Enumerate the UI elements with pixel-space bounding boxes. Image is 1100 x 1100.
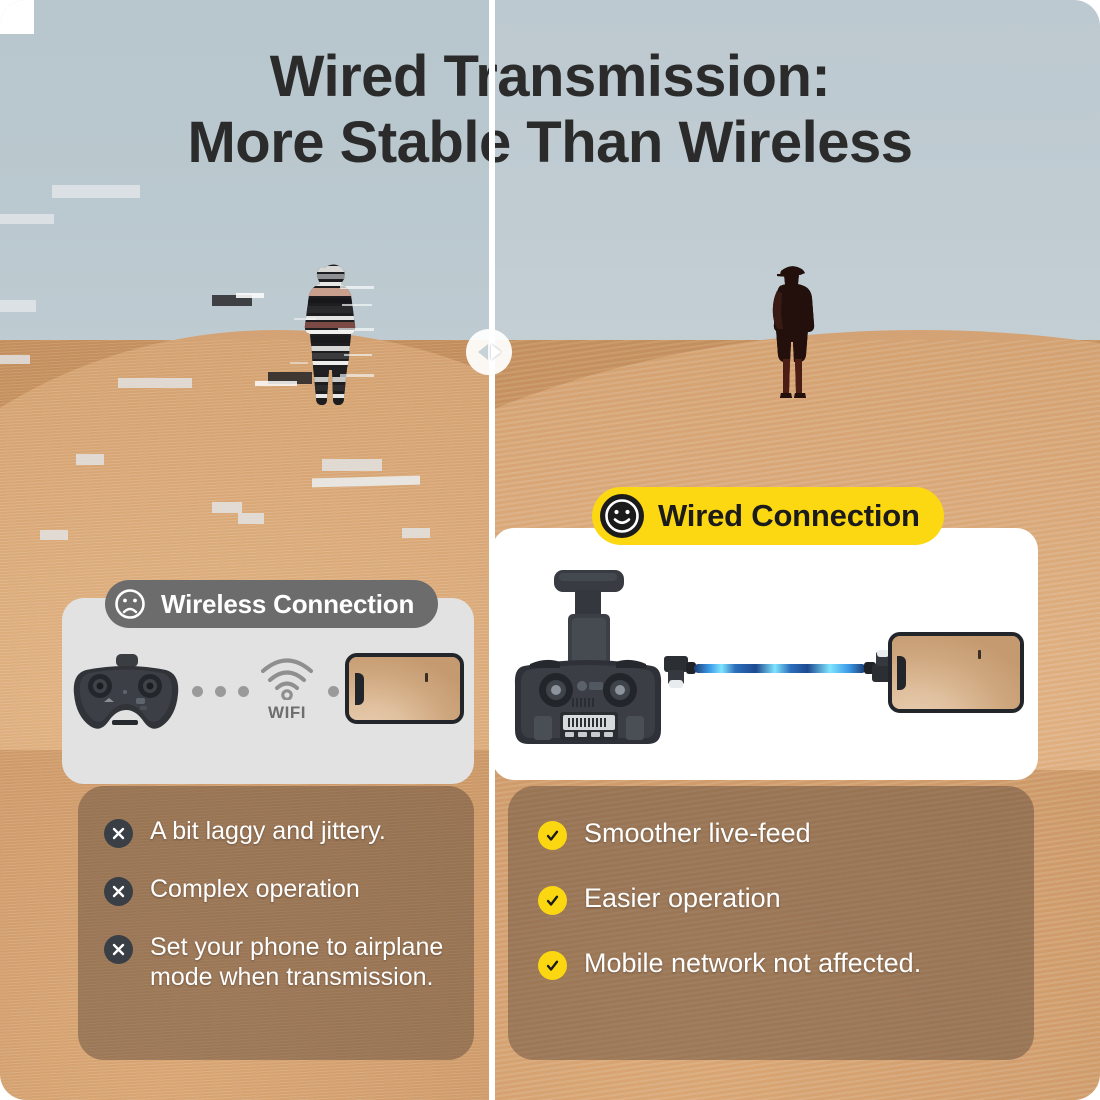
glitch-artifact: [402, 528, 430, 538]
glitch-artifact: [0, 355, 30, 364]
glitch-artifact: [0, 214, 54, 224]
x-mark-icon: [104, 935, 133, 964]
wired-connection-card: [492, 528, 1038, 780]
dot: [192, 686, 203, 697]
list-item: Easier operation: [538, 883, 1022, 915]
dot: [238, 686, 249, 697]
sad-face-icon: [113, 587, 147, 621]
list-item-label: Smoother live-feed: [584, 818, 811, 848]
remote-controller-with-phone-clamp: [512, 570, 664, 757]
glitch-artifact: [238, 513, 264, 524]
list-item-label: Mobile network not affected.: [584, 948, 921, 978]
x-mark-icon: [104, 819, 133, 848]
glitch-artifact: [322, 459, 382, 471]
glitch-artifact: [0, 300, 36, 312]
phone-notch: [355, 673, 364, 705]
mini-person-on-screen: [978, 650, 981, 659]
dot: [328, 686, 339, 697]
list-item-label: Set your phone to airplane mode when tra…: [150, 932, 450, 992]
mini-person-on-screen: [425, 673, 428, 682]
smartphone-wired: [888, 632, 1024, 713]
signal-dots-left: [192, 686, 249, 697]
list-item: A bit laggy and jittery.: [104, 816, 462, 848]
check-mark-icon: [538, 886, 567, 915]
smiley-face-icon: [600, 494, 644, 538]
wired-feature-list: Smoother live-feed Easier operation Mobi…: [538, 818, 1022, 1013]
x-mark-icon: [104, 877, 133, 906]
check-mark-icon: [538, 821, 567, 850]
smartphone-wireless: [345, 653, 464, 724]
wifi-label: WIFI: [268, 703, 306, 723]
glitch-artifact: [52, 185, 140, 198]
list-item-label: A bit laggy and jittery.: [150, 816, 386, 846]
wireless-connection-badge: Wireless Connection: [105, 580, 438, 628]
wireless-badge-label: Wireless Connection: [161, 589, 414, 620]
page-title: Wired Transmission: More Stable Than Wir…: [0, 44, 1100, 176]
list-item: Set your phone to airplane mode when tra…: [104, 932, 462, 992]
person-figure-clean: [761, 255, 823, 403]
wired-connection-badge: Wired Connection: [592, 487, 944, 545]
wifi-signal-indicator: WIFI: [258, 656, 316, 723]
check-mark-icon: [538, 951, 567, 980]
wireless-feature-list: A bit laggy and jittery. Complex operati…: [104, 816, 462, 1018]
list-item: Complex operation: [104, 874, 462, 906]
before-after-slider-handle[interactable]: [466, 329, 512, 375]
glitch-artifact: [40, 530, 68, 540]
dot: [215, 686, 226, 697]
person-figure-glitched: [288, 258, 376, 408]
gamepad-controller: [72, 654, 180, 737]
list-item-label: Complex operation: [150, 874, 360, 904]
page-title-line-1: Wired Transmission:: [270, 44, 830, 109]
phone-screen: [892, 636, 1020, 709]
usb-c-data-cable: [660, 650, 900, 692]
glitch-artifact: [118, 378, 192, 388]
comparison-divider-line: [489, 0, 495, 1100]
arrow-right-icon: [491, 344, 501, 360]
wired-badge-label: Wired Connection: [658, 498, 920, 534]
wireless-feature-panel: A bit laggy and jittery. Complex operati…: [78, 786, 474, 1060]
list-item: Mobile network not affected.: [538, 948, 1022, 980]
glitch-artifact: [212, 502, 242, 513]
arrow-left-icon: [478, 344, 488, 360]
glitch-artifact: [236, 293, 264, 298]
list-item-label: Easier operation: [584, 883, 781, 913]
glitch-artifact: [76, 454, 104, 465]
wired-feature-panel: Smoother live-feed Easier operation Mobi…: [508, 786, 1034, 1060]
phone-screen: [349, 657, 460, 720]
product-comparison-image: Wired Transmission: More Stable Than Wir…: [0, 0, 1100, 1100]
phone-notch: [897, 656, 906, 690]
list-item: Smoother live-feed: [538, 818, 1022, 850]
page-title-line-2: More Stable Than Wireless: [0, 110, 1100, 176]
